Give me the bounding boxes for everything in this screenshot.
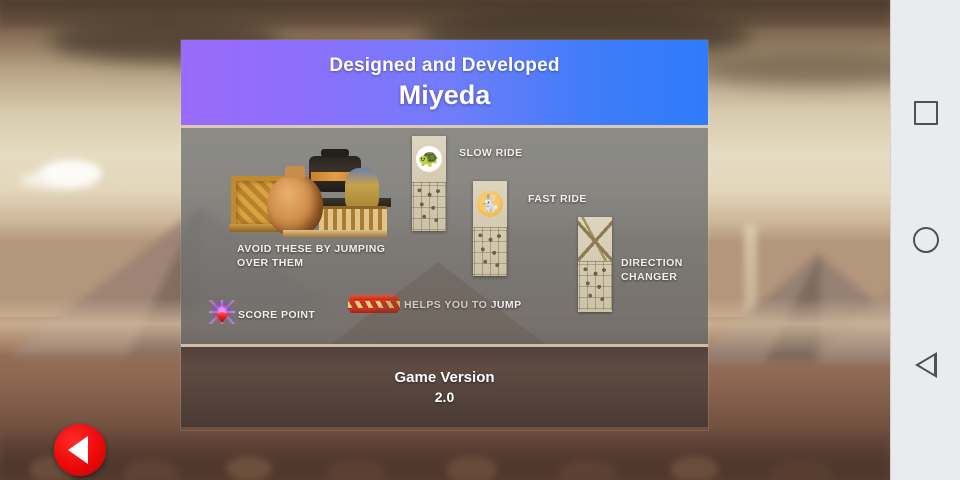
legend-label-obstacles: AVOID THESE BY JUMPING OVER THEM (237, 242, 385, 270)
white-cloud-icon (20, 172, 95, 188)
back-button[interactable] (54, 424, 106, 476)
legend-label-jump-helper: HELPS YOU TO JUMP (404, 298, 522, 312)
home-circle-icon (913, 227, 939, 253)
arrows-tablet-icon (578, 217, 612, 312)
red-gem-star-icon (209, 300, 235, 324)
trampoline-bottom-bar (350, 308, 398, 313)
trampoline-top-bar (350, 295, 398, 300)
rabbit-icon: 🐇 (479, 195, 500, 212)
large-clay-vase-icon (267, 174, 323, 236)
nav-home-button[interactable] (904, 218, 948, 262)
nav-recents-button[interactable] (904, 91, 948, 135)
screen-root: Designed and Developed Miyeda AVOID THES… (0, 0, 960, 480)
legend-label-fast-ride: FAST RIDE (528, 192, 587, 206)
hieroglyph-rows (578, 261, 612, 310)
hieroglyph-rows (473, 227, 507, 276)
legend-label-slow-ride: SLOW RIDE (459, 146, 523, 160)
android-navigation-bar (890, 0, 960, 480)
crossed-arrows-icon (578, 217, 612, 261)
red-trampoline-icon (348, 295, 400, 313)
rabbit-tablet-icon: 🐇 (473, 181, 507, 276)
nav-back-button[interactable] (904, 343, 948, 387)
tablet-emblem-area: 🐢 (412, 136, 446, 182)
colonnade-icon (319, 206, 387, 232)
left-triangle-icon (68, 436, 88, 464)
legend-label-direction-changer: DIRECTION CHANGER (621, 256, 683, 284)
credits-dialog: Designed and Developed Miyeda AVOID THES… (181, 40, 708, 430)
tortoise-icon: 🐢 (418, 150, 439, 167)
plinth-base (283, 230, 387, 237)
tortoise-tablet-icon: 🐢 (412, 136, 446, 231)
pottery-obstacles-icon (231, 154, 391, 232)
legend-label-score-point: SCORE POINT (238, 308, 315, 322)
credits-legend-body: AVOID THESE BY JUMPING OVER THEM 🐢 SLOW … (181, 128, 708, 347)
back-triangle-icon (915, 352, 937, 378)
credits-developer-name: Miyeda (399, 80, 491, 111)
game-version-footer: Game Version 2.0 (181, 347, 708, 427)
hieroglyph-rows (412, 182, 446, 231)
credits-subtitle: Designed and Developed (329, 55, 559, 77)
recents-square-icon (914, 101, 938, 125)
tablet-emblem-area (578, 217, 612, 261)
version-value: 2.0 (435, 389, 454, 405)
tablet-emblem-area: 🐇 (473, 181, 507, 227)
foreground-rocks (0, 428, 890, 480)
version-label: Game Version (394, 369, 494, 386)
credits-header: Designed and Developed Miyeda (181, 40, 708, 128)
